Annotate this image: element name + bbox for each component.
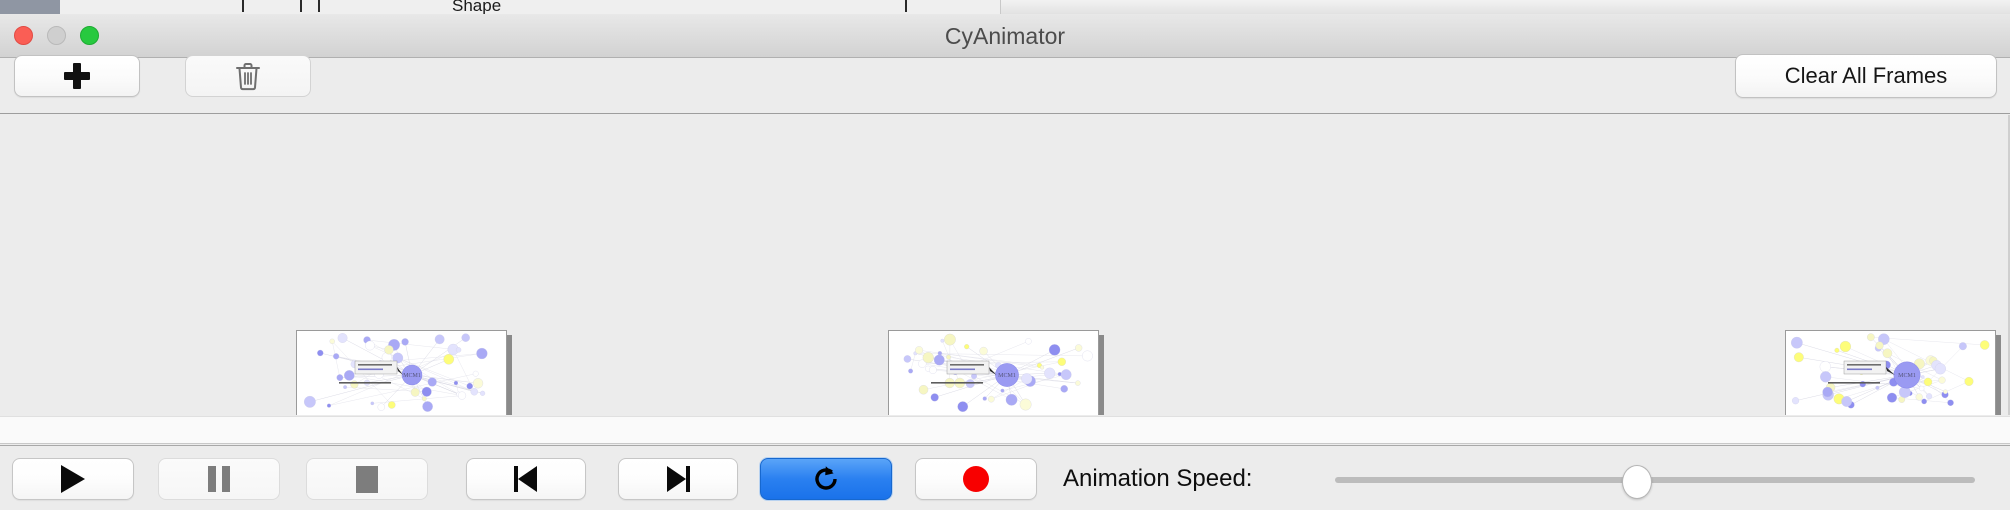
network-graph: MCM1 (889, 331, 1098, 415)
timeline-scrollbar-track[interactable] (0, 416, 2010, 444)
first-frame-button[interactable] (466, 458, 586, 500)
svg-text:MCM1: MCM1 (998, 373, 1016, 379)
close-icon[interactable] (14, 26, 33, 45)
timeline-frame-thumbnail[interactable]: MCM1 (296, 330, 512, 415)
background-window-tick (318, 0, 320, 12)
plus-icon (64, 63, 90, 89)
background-window-tick (300, 0, 302, 12)
background-window-tick (242, 0, 244, 12)
skip-forward-icon (666, 466, 690, 492)
background-window-tick (905, 0, 907, 12)
record-icon (963, 466, 989, 492)
playback-control-bar: Animation Speed: (0, 445, 2010, 510)
thumbnail-canvas: MCM1 (1785, 330, 1996, 415)
last-frame-button[interactable] (618, 458, 738, 500)
network-graph: MCM1 (297, 331, 506, 415)
window-title: CyAnimator (0, 14, 2010, 58)
timeline-frame-thumbnail[interactable]: MCM1 (888, 330, 1104, 415)
skip-back-icon (514, 466, 538, 492)
cyanimator-window: Shape CyAnimator Clear All Frames MCM1MC… (0, 0, 2010, 510)
loop-button[interactable] (760, 458, 892, 500)
background-window-segment (310, 0, 391, 14)
svg-text:MCM1: MCM1 (1898, 373, 1916, 379)
thumbnail-canvas: MCM1 (296, 330, 507, 415)
window-traffic-lights (14, 26, 99, 45)
background-window-segment (180, 0, 241, 14)
stop-button[interactable] (306, 458, 428, 500)
play-button[interactable] (12, 458, 134, 500)
timeline-frame-thumbnail[interactable]: MCM1 (1785, 330, 2001, 415)
animation-speed-slider-knob[interactable] (1622, 465, 1652, 499)
animation-speed-label: Animation Speed: (1063, 458, 1252, 500)
clear-all-frames-button[interactable]: Clear All Frames (1735, 54, 1997, 98)
background-window-label: Shape (452, 0, 501, 15)
animation-speed-slider[interactable] (1335, 477, 1975, 483)
thumbnail-canvas: MCM1 (888, 330, 1099, 415)
pause-button[interactable] (158, 458, 280, 500)
background-window-strip: Shape (0, 0, 2010, 15)
loop-icon (811, 464, 841, 494)
record-button[interactable] (915, 458, 1037, 500)
pause-icon (208, 466, 230, 492)
background-window-selected-tab (0, 0, 60, 14)
trash-icon (234, 61, 262, 91)
background-window-segment (60, 0, 181, 14)
play-icon (61, 465, 85, 493)
network-graph: MCM1 (1786, 331, 1995, 415)
stop-icon (356, 466, 378, 493)
zoom-icon[interactable] (80, 26, 99, 45)
delete-frame-button[interactable] (185, 55, 311, 97)
minimize-icon[interactable] (47, 26, 66, 45)
clear-all-frames-label: Clear All Frames (1785, 63, 1948, 89)
svg-text:MCM1: MCM1 (403, 373, 421, 379)
add-frame-button[interactable] (14, 55, 140, 97)
timeline-panel[interactable]: MCM1MCM1MCM1 12131415161718 Seconds (0, 115, 2010, 415)
titlebar: CyAnimator (0, 14, 2010, 58)
